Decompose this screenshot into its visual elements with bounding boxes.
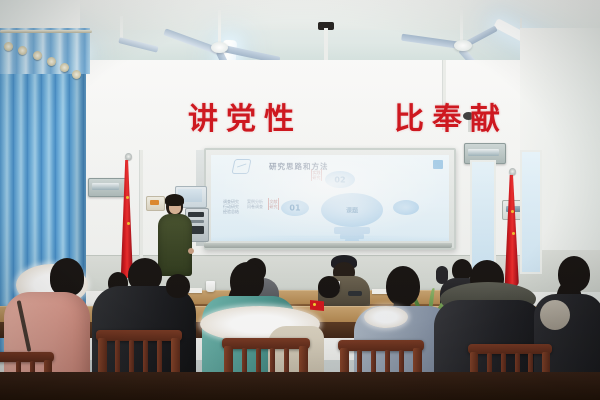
window-pane-right [520, 150, 542, 274]
curtain-ring [47, 57, 56, 66]
screen-light-glow [211, 155, 449, 241]
slogan-char-5: 奉 [432, 105, 462, 135]
slogan-left-group: 讲 党 性 [188, 105, 294, 135]
ceiling-fan-1-stem [218, 10, 221, 46]
ceiling-fan-3-stem [120, 16, 123, 38]
electrical-box-right-slot [468, 149, 499, 156]
desk-flag [310, 300, 324, 311]
slogan-char-3: 性 [264, 105, 294, 135]
flag-right-finial [509, 168, 516, 175]
flag-right-star [511, 210, 514, 213]
chair-top-rail [96, 330, 182, 341]
paper-cup[interactable] [206, 281, 215, 292]
screen-bottom-tray [204, 243, 452, 248]
curtain-ring [33, 51, 42, 60]
curtain-ring [60, 63, 69, 72]
curtain-ring [72, 70, 81, 79]
mobile-phone[interactable] [348, 291, 362, 296]
projection-screen-frame: 研究思路和方法 课题 02 01 实践研究 文献研究 调 [204, 148, 456, 250]
window-pane-left [470, 160, 496, 270]
wall-conduit-left [139, 150, 143, 258]
slogan-char-6: 献 [470, 105, 500, 135]
person-dark-back-arm [436, 266, 448, 284]
ceiling-fan-2-stem [460, 6, 463, 42]
flag-left-star [127, 222, 130, 225]
person-black-right-scarf [540, 300, 570, 330]
presenter-hair [165, 194, 184, 206]
person-extra-head-1 [166, 274, 190, 298]
electrical-box-left-slot [92, 183, 119, 190]
ceiling-fan-2-hub [454, 40, 472, 51]
person-pink-fur-head [50, 258, 84, 296]
presenter-hand [188, 248, 194, 254]
ceiling-fan-1-hub [211, 42, 228, 53]
chair-top-rail [338, 340, 424, 351]
window-curtain-valance [0, 28, 90, 74]
presenter-coat [158, 214, 192, 276]
slogan-char-4: 比 [394, 105, 424, 135]
wall-slogan-banner: 讲 党 性 比 奉 献 [188, 98, 500, 142]
cabinet-slot-1 [188, 212, 204, 217]
slogan-char-1: 讲 [188, 105, 218, 135]
floor [0, 372, 600, 400]
person-grey-blue-collar [364, 306, 408, 328]
meeting-room-photo: 讲 党 性 比 奉 献 研究思路和方法 课题 02 [0, 0, 600, 400]
chair-top-rail [222, 338, 310, 349]
curtain-ring [4, 42, 13, 51]
slogan-right-group: 比 奉 献 [394, 105, 500, 135]
light-switch-toggle[interactable] [150, 200, 159, 205]
slogan-char-2: 党 [226, 105, 256, 135]
desk-flag-star [313, 303, 316, 306]
chair-top-rail [468, 344, 552, 354]
person-extra-head-2 [318, 276, 340, 298]
flag-left-star [126, 196, 129, 199]
projection-screen: 研究思路和方法 课题 02 01 实践研究 文献研究 调 [211, 155, 449, 241]
flag-right-star [512, 232, 515, 235]
curtain-ring [18, 46, 27, 55]
flag-left-finial [125, 153, 132, 160]
curtain-rod [0, 30, 92, 33]
